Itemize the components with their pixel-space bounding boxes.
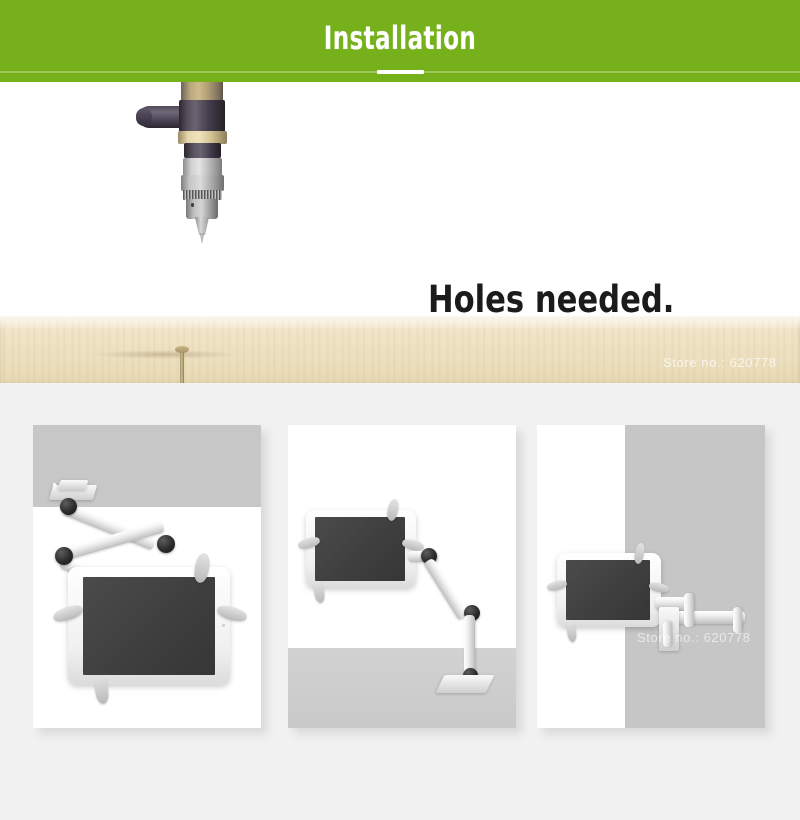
screw-icon (171, 346, 193, 383)
tablet-device (306, 510, 416, 588)
wall-mount-screw-hole (53, 483, 56, 486)
screw-head (175, 346, 189, 353)
hero-photo-drill-and-screw: Holes needed. (0, 82, 800, 383)
drill-chuck-middle (181, 175, 224, 191)
header-title-underline (377, 70, 424, 74)
wall-mount-bracket (58, 480, 89, 490)
drill-chuck-lower (186, 199, 218, 219)
installation-page: Installation (0, 0, 800, 820)
mounting-ways-section: Store no.: 620778 Way 1 Way 2 Way 3 (0, 383, 800, 820)
hero-watermark: Store no.: 620778 (663, 355, 777, 370)
desk-base-plate (436, 675, 495, 693)
drill-collar-dark (179, 100, 225, 132)
arm-segment-diagonal (423, 558, 468, 621)
tablet-screen (83, 577, 215, 675)
wood-shadow (90, 350, 240, 359)
panel-watermark: Store no.: 620778 (637, 630, 751, 645)
screw-shank (180, 351, 184, 383)
arm-joint-knob-top (60, 498, 77, 515)
drill-chuck-upper (183, 158, 222, 176)
tablet-screen (566, 560, 650, 620)
way-2-panel[interactable] (288, 425, 516, 728)
way-1-panel[interactable] (33, 425, 261, 728)
wood-surface (0, 316, 800, 383)
tablet-device (557, 553, 661, 627)
drill-chuck-keyhole (191, 203, 194, 207)
drill-neck (184, 143, 221, 158)
page-header: Installation (0, 0, 800, 82)
drill-handle-tip (136, 108, 152, 126)
hero-caption: Holes needed. (428, 278, 674, 321)
arm-joint-knob-elbow (157, 535, 175, 553)
wood-edge-highlight (0, 316, 800, 330)
page-title: Installation (80, 19, 720, 57)
arm-joint-knob-bottom (55, 547, 73, 565)
way-3-panel[interactable]: Store no.: 620778 (537, 425, 765, 728)
drill-chuck-jaws (195, 217, 209, 235)
tablet-screen (315, 517, 405, 581)
arm-pivot-cylinder (684, 593, 694, 627)
tablet-camera-dot (222, 624, 225, 627)
drill-bit-tip (200, 233, 204, 243)
tablet-device (68, 567, 230, 685)
power-drill-icon (150, 82, 260, 312)
